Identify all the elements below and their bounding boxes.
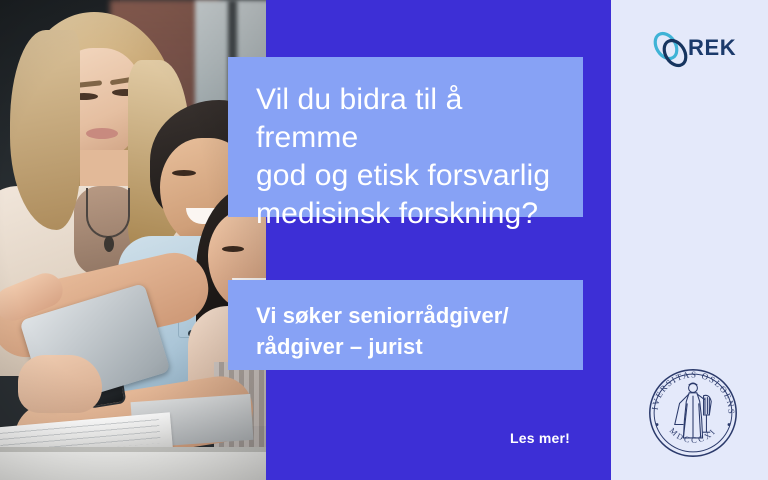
uio-seal-dot-left	[656, 423, 659, 426]
uio-seal: UNIVERSITAS OSLOENSIS MDCCCXI	[645, 365, 741, 461]
uio-seal-dot-right	[728, 423, 731, 426]
read-more-link[interactable]: Les mer!	[390, 430, 570, 446]
uio-seal-icon: UNIVERSITAS OSLOENSIS MDCCCXI	[645, 365, 741, 461]
headline-box: Vil du bidra til å fremme god og etisk f…	[228, 57, 583, 217]
uio-seal-top-legend: UNIVERSITAS OSLOENSIS	[645, 365, 737, 415]
role-title-text: Vi søker seniorrådgiver/ rådgiver – juri…	[256, 300, 555, 362]
uio-seal-apollo-figure	[675, 383, 711, 438]
photo-panel	[0, 0, 266, 480]
recruitment-banner: Vil du bidra til å fremme god og etisk f…	[0, 0, 768, 480]
rek-logo[interactable]: REK	[650, 28, 738, 72]
headline-text: Vil du bidra til å fremme god og etisk f…	[256, 81, 555, 233]
role-box: Vi søker seniorrådgiver/ rådgiver – juri…	[228, 280, 583, 370]
photo-vignette	[0, 0, 266, 480]
rek-wordmark: REK	[688, 35, 736, 61]
